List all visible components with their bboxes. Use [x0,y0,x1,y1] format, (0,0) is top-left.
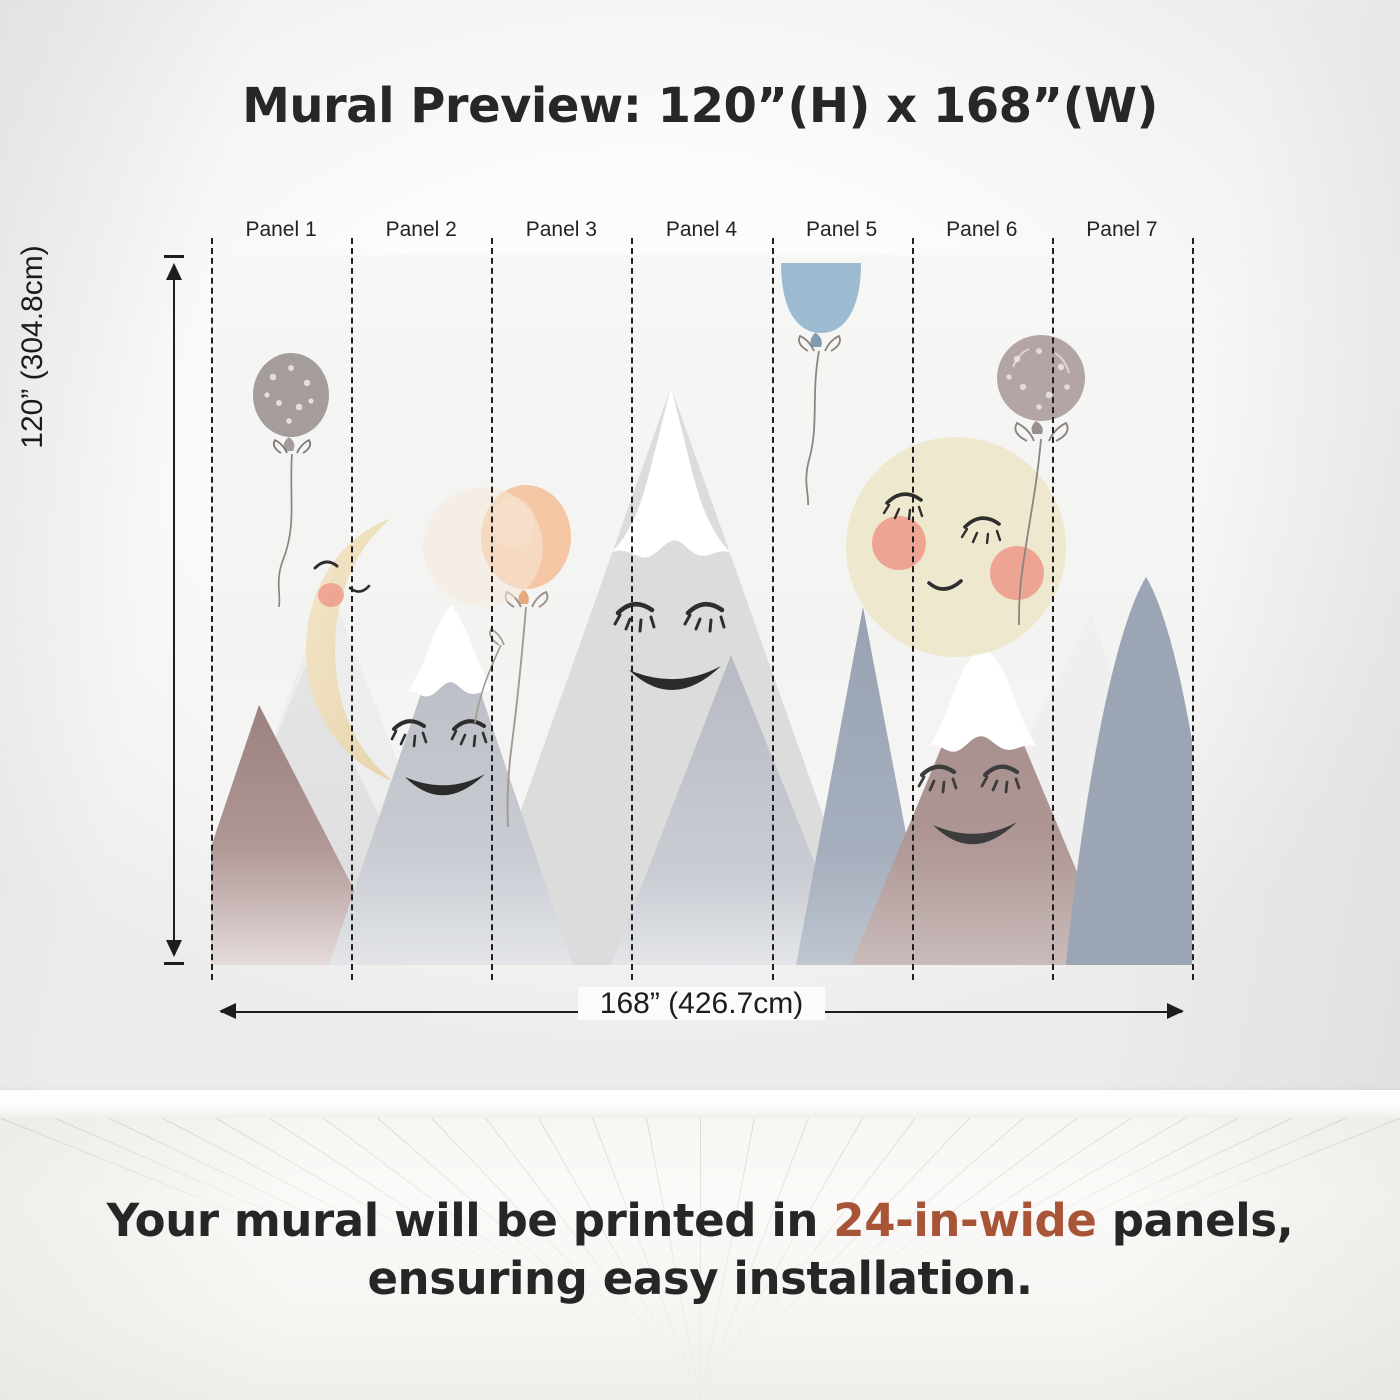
caption: Your mural will be printed in 24-in-wide… [70,1192,1330,1307]
panel-divider-6 [1052,238,1054,980]
caption-part-1: Your mural will be printed in [107,1194,834,1247]
panel-label-6: Panel 6 [907,218,1057,242]
dim-cap-top [164,255,184,258]
panel-label-1: Panel 1 [206,218,356,242]
dim-cap-bottom [164,962,184,965]
width-dimension: 168” (426.7cm) [211,1000,1192,1024]
arrow-up-icon [166,263,182,280]
panel-divider-3 [631,238,633,980]
panel-label-5: Panel 5 [767,218,917,242]
panel-divider-0 [211,238,213,980]
mural-artwork [211,255,1192,965]
panel-divider-1 [351,238,353,980]
width-dimension-label: 168” (426.7cm) [211,987,1192,1021]
arrow-down-icon [166,940,182,957]
caption-accent: 24-in-wide [833,1194,1096,1247]
mural-preview-screenshot: Mural Preview: 120”(H) x 168”(W) [0,0,1400,1400]
dim-line-vertical [173,265,175,955]
height-dimension-label: 120” (304.8cm) [16,182,50,512]
width-dimension-text: 168” (426.7cm) [578,987,825,1020]
panel-divider-4 [772,238,774,980]
panel-label-2: Panel 2 [346,218,496,242]
sun-sleeping [846,437,1066,657]
height-dimension [163,255,185,965]
panel-label-3: Panel 3 [486,218,636,242]
panel-divider-7 [1192,238,1194,980]
page-title: Mural Preview: 120”(H) x 168”(W) [0,78,1400,134]
panel-label-4: Panel 4 [627,218,777,242]
panel-label-7: Panel 7 [1047,218,1197,242]
baseboard [0,1090,1400,1118]
panel-divider-5 [912,238,914,980]
panel-divider-2 [491,238,493,980]
